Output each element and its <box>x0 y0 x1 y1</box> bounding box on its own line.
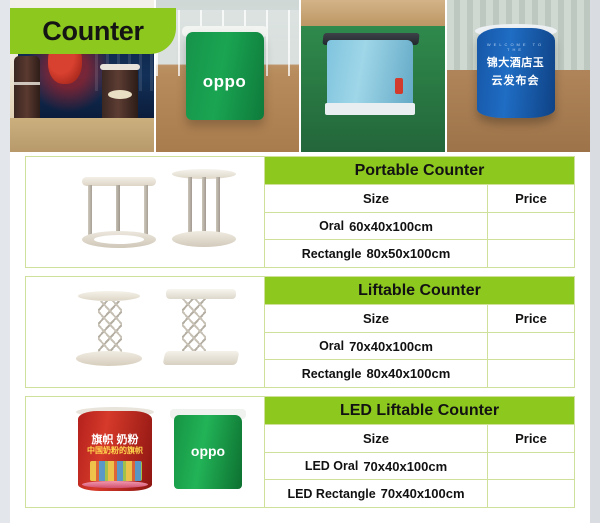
cell-price <box>488 240 574 267</box>
hero-panel-oppo-counter: oppo <box>156 0 300 152</box>
spec-table-title: Liftable Counter <box>358 282 481 300</box>
size-label: Rectangle <box>302 367 362 381</box>
hennessy-label-tag <box>108 90 132 99</box>
hero-panel-blue-counter <box>301 0 445 152</box>
rect-table-leg <box>144 185 148 235</box>
size-dimension: 70x40x100cm <box>363 459 447 474</box>
size-dimension: 70x40x100cm <box>381 486 465 501</box>
light-blue-counter-body <box>327 40 413 106</box>
spec-table-title-bar: Portable Counter <box>265 157 574 184</box>
size-label: Oral <box>319 339 344 353</box>
oval-lift-table-base <box>76 351 142 366</box>
round-table-leg <box>216 177 220 235</box>
rect-table-leg <box>88 185 92 235</box>
cell-price <box>488 480 574 507</box>
table-row: Oral 60x40x100cm <box>265 212 574 240</box>
scissor-mechanism <box>98 301 122 353</box>
spec-table-title: Portable Counter <box>355 162 485 180</box>
counter-kicker-text: WELCOME TO THE <box>477 42 555 52</box>
column-header-size: Size <box>265 185 488 212</box>
size-label: Oral <box>319 219 344 233</box>
column-header-price: Price <box>488 425 574 452</box>
scissor-mechanism <box>182 299 206 353</box>
table-header-row: Size Price <box>265 184 574 212</box>
table-row: LED Rectangle 70x40x100cm <box>265 479 574 507</box>
table-row: LED Oral 70x40x100cm <box>265 452 574 480</box>
product-card-liftable-counter[interactable]: Liftable Counter Size Price Oral 70x40x1… <box>25 276 575 388</box>
cell-size: Rectangle 80x50x100cm <box>265 240 488 267</box>
page-gutter-left <box>0 0 10 523</box>
product-card-list: Portable Counter Size Price Oral 60x40x1… <box>10 156 590 516</box>
column-header-size: Size <box>265 425 488 452</box>
cell-size: LED Rectangle 70x40x100cm <box>265 480 488 507</box>
cell-price <box>488 213 574 240</box>
size-label: LED Oral <box>305 459 359 473</box>
wood-floor <box>10 118 154 152</box>
product-card-led-liftable-counter[interactable]: 旗帜 奶粉 中国奶粉的旗帜 oppo LED Liftable Counter … <box>25 396 575 508</box>
round-table-leg <box>188 177 192 235</box>
led-liftable-counter-photo: 旗帜 奶粉 中国奶粉的旗帜 oppo <box>26 397 264 507</box>
column-header-price: Price <box>488 305 574 332</box>
spec-table-title-bar: LED Liftable Counter <box>265 397 574 424</box>
spec-table-portable-counter: Portable Counter Size Price Oral 60x40x1… <box>264 157 574 267</box>
spec-table-title-bar: Liftable Counter <box>265 277 574 304</box>
column-header-price: Price <box>488 185 574 212</box>
hero-panel-blue-round-counter: WELCOME TO THE 锦大酒店玉 云发布会 <box>447 0 591 152</box>
cell-size: LED Oral 70x40x100cm <box>265 453 488 480</box>
product-card-portable-counter[interactable]: Portable Counter Size Price Oral 60x40x1… <box>25 156 575 268</box>
size-label: LED Rectangle <box>287 487 375 501</box>
liftable-counter-photo <box>26 277 264 387</box>
rect-table-leg <box>116 185 120 235</box>
spec-table-liftable-counter: Liftable Counter Size Price Oral 70x40x1… <box>264 277 574 387</box>
cell-size: Oral 60x40x100cm <box>265 213 488 240</box>
wood-floor-strip <box>301 0 445 28</box>
page-gutter-right <box>590 0 600 523</box>
counter-headline-bottom: 云发布会 <box>477 72 555 88</box>
page-title-banner: Counter <box>10 8 176 54</box>
table-row: Rectangle 80x40x100cm <box>265 359 574 387</box>
oppo-green-counter-body: oppo <box>186 32 264 120</box>
cell-size: Rectangle 80x40x100cm <box>265 360 488 387</box>
red-accent-panel <box>395 78 403 94</box>
oppo-logo-text: oppo <box>174 443 242 459</box>
size-dimension: 70x40x100cm <box>349 339 433 354</box>
product-catalog-page: oppo WELCOME TO THE 锦大酒店玉 云发布会 Counter <box>0 0 600 523</box>
cell-price <box>488 360 574 387</box>
round-table-base <box>172 231 236 247</box>
table-header-row: Size Price <box>265 424 574 452</box>
rect-table-base-cutout <box>94 235 144 244</box>
page-title: Counter <box>42 16 143 47</box>
column-header-size: Size <box>265 305 488 332</box>
product-cans-graphic <box>90 461 142 481</box>
cell-price <box>488 333 574 360</box>
cell-price <box>488 453 574 480</box>
rect-lift-table-top <box>166 289 236 299</box>
size-dimension: 60x40x100cm <box>349 219 433 234</box>
oval-lift-table-top <box>78 291 140 301</box>
table-row: Rectangle 80x50x100cm <box>265 239 574 267</box>
portable-counter-photo <box>26 157 264 267</box>
size-dimension: 80x40x100cm <box>366 366 450 381</box>
round-table-leg <box>202 177 206 235</box>
table-header-row: Size Price <box>265 304 574 332</box>
rect-lift-table-base <box>163 351 240 365</box>
red-counter-subheadline: 中国奶粉的旗帜 <box>78 445 152 456</box>
cell-size: Oral 70x40x100cm <box>265 333 488 360</box>
counter-headline-top: 锦大酒店玉 <box>477 54 555 70</box>
spec-table-title: LED Liftable Counter <box>340 402 499 420</box>
round-counter-body: WELCOME TO THE 锦大酒店玉 云发布会 <box>477 28 555 118</box>
spec-table-led-liftable-counter: LED Liftable Counter Size Price LED Oral… <box>264 397 574 507</box>
oppo-logo-text: oppo <box>186 72 264 92</box>
size-dimension: 80x50x100cm <box>366 246 450 261</box>
table-row: Oral 70x40x100cm <box>265 332 574 360</box>
counter-white-base <box>325 103 415 115</box>
size-label: Rectangle <box>302 247 362 261</box>
shelf-graphic <box>82 481 148 488</box>
